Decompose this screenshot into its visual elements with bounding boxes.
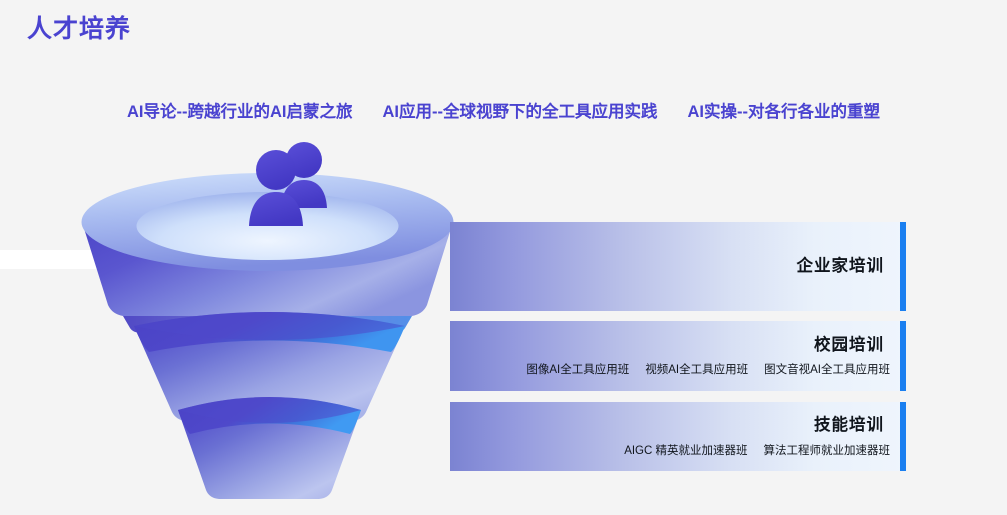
- page-title: 人才培养: [27, 9, 131, 45]
- band-accent-bar: [900, 222, 906, 311]
- band-item-campus-image[interactable]: 图像AI全工具应用班: [526, 361, 629, 377]
- subtitle-row: AI导论--跨越行业的AI启蒙之旅 AI应用--全球视野下的全工具应用实践 AI…: [0, 96, 1007, 124]
- band-accent-bar: [900, 321, 906, 391]
- band-title-campus: 校园培训: [814, 335, 884, 356]
- band-item-skills-algorithm[interactable]: 算法工程师就业加速器班: [764, 442, 891, 458]
- band-item-campus-multimedia[interactable]: 图文音视AI全工具应用班: [764, 361, 890, 377]
- training-band-skills[interactable]: 技能培训 AIGC 精英就业加速器班 算法工程师就业加速器班: [450, 402, 906, 471]
- band-items-skills: AIGC 精英就业加速器班 算法工程师就业加速器班: [624, 442, 890, 458]
- training-band-entrepreneur[interactable]: 企业家培训: [450, 222, 906, 311]
- subtitle-item-ai-application: AI应用--全球视野下的全工具应用实践: [383, 98, 658, 122]
- band-item-skills-aigc[interactable]: AIGC 精英就业加速器班: [624, 442, 747, 458]
- funnel-segment-bottom: [178, 397, 361, 499]
- band-title-skills: 技能培训: [814, 415, 884, 436]
- band-accent-bar: [900, 402, 906, 471]
- slide-canvas: 人才培养 AI导论--跨越行业的AI启蒙之旅 AI应用--全球视野下的全工具应用…: [0, 0, 1007, 515]
- band-items-campus: 图像AI全工具应用班 视频AI全工具应用班 图文音视AI全工具应用班: [526, 361, 890, 377]
- subtitle-item-ai-practice: AI实操--对各行各业的重塑: [688, 98, 881, 122]
- band-item-campus-video[interactable]: 视频AI全工具应用班: [645, 361, 748, 377]
- training-band-campus[interactable]: 校园培训 图像AI全工具应用班 视频AI全工具应用班 图文音视AI全工具应用班: [450, 321, 906, 391]
- band-title-entrepreneur: 企业家培训: [797, 256, 885, 277]
- subtitle-item-ai-intro: AI导论--跨越行业的AI启蒙之旅: [127, 98, 353, 122]
